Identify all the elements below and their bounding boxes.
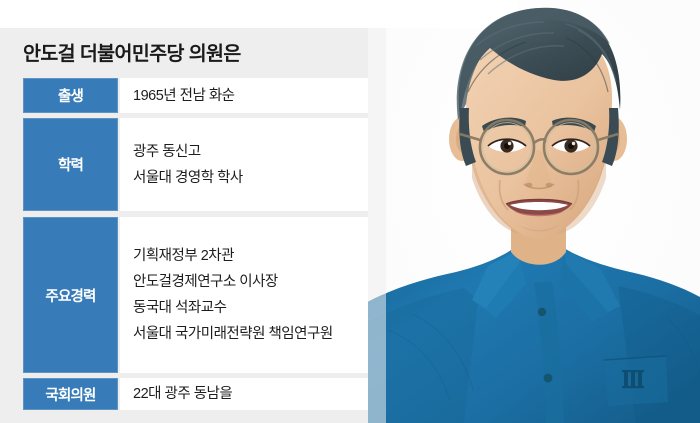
row-label-birth: 출생 [23, 78, 118, 113]
row-label-career: 주요경력 [23, 217, 118, 373]
row-label-education: 학력 [23, 118, 118, 211]
row-label-assembly: 국회의원 [23, 378, 118, 410]
page-title: 안도걸 더불어민주당 의원은 [23, 41, 241, 67]
infographic-card: 안도걸 더불어민주당 의원은 출생 1965년 전남 화순 학력 광주 동신고 … [0, 0, 700, 423]
portrait-photo [368, 0, 700, 423]
